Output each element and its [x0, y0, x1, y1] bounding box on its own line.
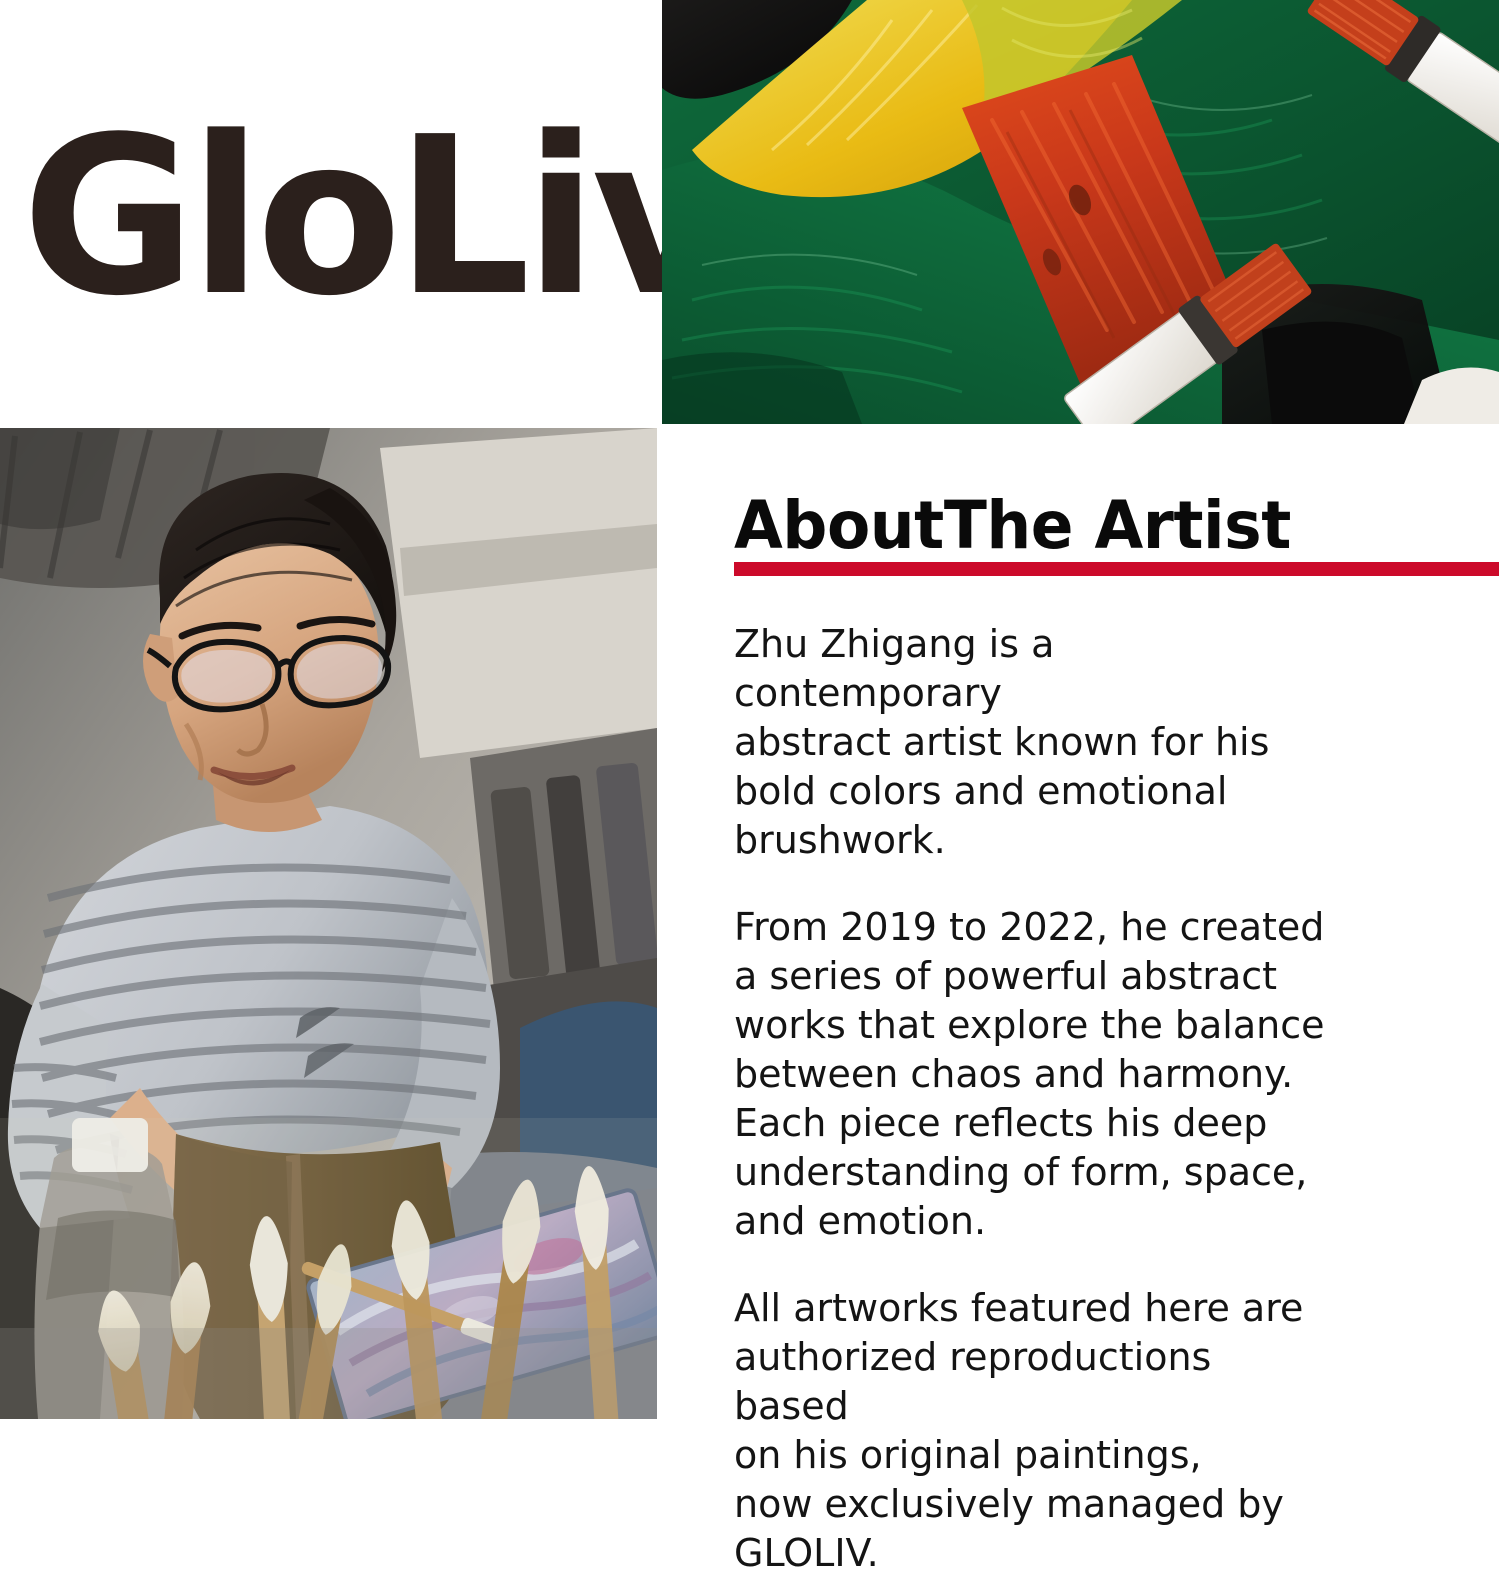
about-paragraph-1: Zhu Zhigang is a contemporary abstract a… [734, 620, 1334, 865]
brand-wordmark: GloLiv [22, 109, 723, 327]
about-paragraph-3: All artworks featured here are authorize… [734, 1284, 1334, 1578]
about-the-artist-section: AboutThe Artist [734, 490, 1499, 562]
oil-paint-palette-image [662, 0, 1499, 424]
brand-logo: GloLiv [22, 118, 632, 318]
artist-in-studio-image [0, 428, 657, 1419]
heading-underline-rule [734, 562, 1499, 576]
page-title: AboutThe Artist [734, 490, 1465, 562]
about-the-artist-body: Zhu Zhigang is a contemporary abstract a… [734, 620, 1334, 1578]
artist-photo-illustration [0, 428, 657, 1419]
about-paragraph-2: From 2019 to 2022, he created a series o… [734, 903, 1334, 1246]
paint-photo-illustration [662, 0, 1499, 424]
